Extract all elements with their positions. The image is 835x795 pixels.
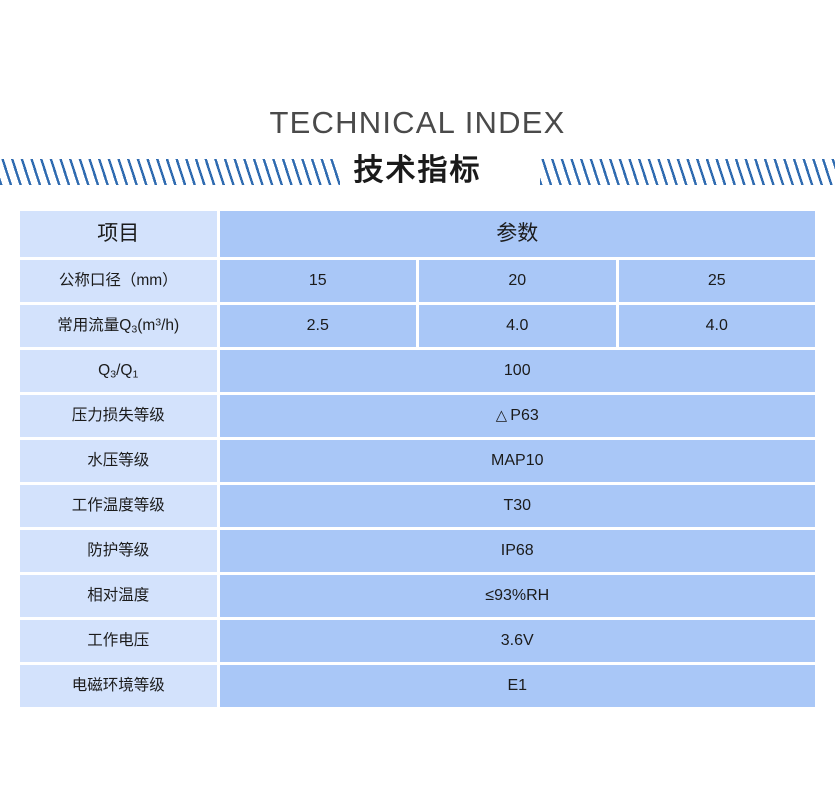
column-header-parameter: 参数: [220, 211, 816, 257]
row-value: 20: [419, 260, 616, 302]
table-row: 电磁环境等级E1: [20, 665, 815, 707]
row-value: IP68: [220, 530, 816, 572]
row-value: 100: [220, 350, 816, 392]
row-value: E1: [220, 665, 816, 707]
row-label: 工作电压: [20, 620, 217, 662]
row-value: T30: [220, 485, 816, 527]
row-label: 防护等级: [20, 530, 217, 572]
row-label: 水压等级: [20, 440, 217, 482]
row-label: 压力损失等级: [20, 395, 217, 437]
row-value: 25: [619, 260, 816, 302]
table-header-row: 项目 参数: [20, 211, 815, 257]
table-row: 相对温度≤93%RH: [20, 575, 815, 617]
row-label: 工作温度等级: [20, 485, 217, 527]
row-value: 2.5: [220, 305, 417, 347]
table-row: 工作电压3.6V: [20, 620, 815, 662]
row-label: 常用流量Q3(m3/h): [20, 305, 217, 347]
row-value: 3.6V: [220, 620, 816, 662]
row-value: 4.0: [619, 305, 816, 347]
table-row: 工作温度等级T30: [20, 485, 815, 527]
table-row: 压力损失等级△ P63: [20, 395, 815, 437]
row-label: 公称口径（mm）: [20, 260, 217, 302]
row-value: MAP10: [220, 440, 816, 482]
technical-spec-table: 项目 参数 公称口径（mm）152025常用流量Q3(m3/h)2.54.04.…: [17, 208, 818, 710]
page-header: TECHNICAL INDEX 技术指标: [0, 100, 835, 190]
row-value: △ P63: [220, 395, 816, 437]
row-label: 电磁环境等级: [20, 665, 217, 707]
technical-index-page: TECHNICAL INDEX 技术指标 项目 参数 公称口径（mm）15202…: [0, 0, 835, 795]
spec-table-body: 项目 参数 公称口径（mm）152025常用流量Q3(m3/h)2.54.04.…: [20, 211, 815, 707]
row-label: Q3/Q1: [20, 350, 217, 392]
row-value: 15: [220, 260, 417, 302]
row-value: ≤93%RH: [220, 575, 816, 617]
table-row: 公称口径（mm）152025: [20, 260, 815, 302]
page-title-english: TECHNICAL INDEX: [0, 105, 835, 141]
row-label: 相对温度: [20, 575, 217, 617]
table-row: 水压等级MAP10: [20, 440, 815, 482]
table-row: 防护等级IP68: [20, 530, 815, 572]
decorative-stripes-left: [0, 159, 340, 185]
table-row: 常用流量Q3(m3/h)2.54.04.0: [20, 305, 815, 347]
table-row: Q3/Q1100: [20, 350, 815, 392]
row-value: 4.0: [419, 305, 616, 347]
decorative-stripes-right: [540, 159, 835, 185]
column-header-item: 项目: [20, 211, 217, 257]
